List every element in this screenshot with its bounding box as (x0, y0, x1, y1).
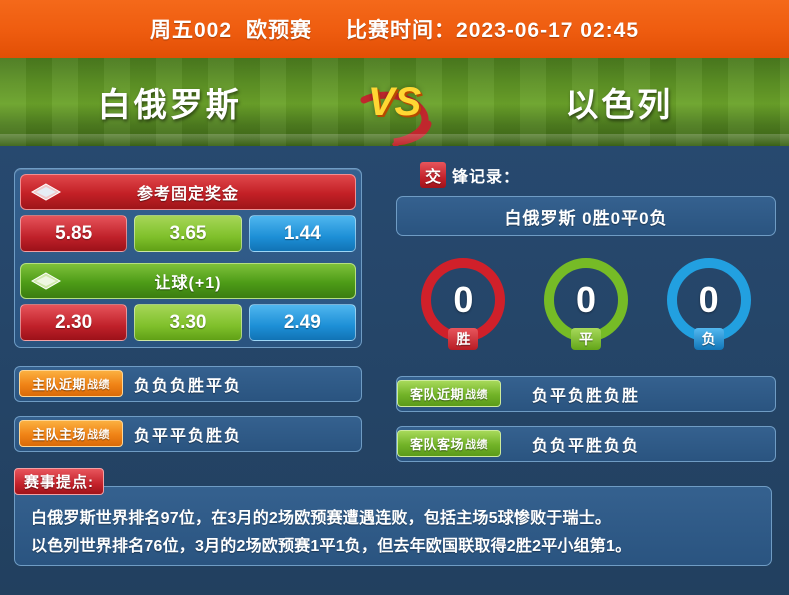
tag-main-text: 主队主场 (32, 424, 86, 443)
odds-panel: 参考固定奖金 5.85 3.65 1.44 让球(+1) 2.30 3.3 (14, 168, 362, 348)
h2h-heading-rest: 锋记录： (452, 163, 520, 187)
handicap-title-banner: 让球(+1) (20, 263, 356, 299)
notes-section: 赛事提点: 白俄罗斯世界排名97位，在3月的2场欧预赛遭遇连败，包括主场5球惨败… (14, 468, 774, 574)
odds-column: 参考固定奖金 5.85 3.65 1.44 让球(+1) 2.30 3.3 (14, 168, 362, 452)
handicap-odd-draw[interactable]: 3.30 (134, 304, 241, 341)
tag-sub-text: 战绩 (465, 436, 488, 452)
fixed-odds-title-banner: 参考固定奖金 (20, 174, 356, 210)
h2h-ring-draw: 0 平 (538, 252, 634, 348)
fixed-odds-title: 参考固定奖金 (137, 180, 239, 204)
home-team-name: 白俄罗斯 (0, 78, 340, 126)
h2h-column: 交 锋记录： 白俄罗斯 0胜0平0负 0 胜 0 平 (396, 162, 776, 462)
vs-label: VS (368, 80, 421, 124)
fixed-odds-row: 5.85 3.65 1.44 (15, 215, 361, 258)
handicap-odd-home[interactable]: 2.30 (20, 304, 127, 341)
h2h-ring-win: 0 胜 (415, 252, 511, 348)
vs-badge: VS (340, 80, 450, 125)
note-line-1: 白俄罗斯世界排名97位，在3月的2场欧预赛遭遇连败，包括主场5球惨败于瑞士。 (31, 504, 755, 528)
content-area: 参考固定奖金 5.85 3.65 1.44 让球(+1) 2.30 3.3 (0, 146, 789, 595)
fixed-odd-away[interactable]: 1.44 (249, 215, 356, 252)
home-home-form-row: 主队主场 战绩 负平平负胜负 (14, 416, 362, 452)
h2h-ring-win-label: 胜 (448, 328, 478, 350)
teams-row: 白俄罗斯 VS 以色列 (0, 58, 789, 146)
league-name: 欧预赛 (246, 14, 312, 44)
home-home-form-tag: 主队主场 战绩 (19, 420, 123, 447)
header-bar: 周五002 欧预赛 比赛时间：2023-06-17 02:45 (0, 0, 789, 58)
tag-main-text: 主队近期 (32, 374, 86, 393)
away-away-form-row: 客队客场 战绩 负负平胜负负 (396, 426, 776, 462)
away-recent-form-tag: 客队近期 战绩 (397, 380, 501, 407)
tag-sub-text: 战绩 (87, 426, 110, 442)
h2h-heading-keyword: 交 (420, 162, 446, 188)
header-text-group: 周五002 欧预赛 比赛时间：2023-06-17 02:45 (150, 14, 639, 44)
match-number: 周五002 (150, 14, 232, 44)
fixed-odd-home[interactable]: 5.85 (20, 215, 127, 252)
h2h-rings: 0 胜 0 平 0 负 (396, 252, 776, 348)
home-recent-form-tag: 主队近期 战绩 (19, 370, 123, 397)
diamond-icon (29, 271, 63, 291)
handicap-odds-row: 2.30 3.30 2.49 (15, 304, 361, 347)
tag-sub-text: 战绩 (465, 386, 488, 402)
match-preview-card: 周五002 欧预赛 比赛时间：2023-06-17 02:45 白俄罗斯 VS … (0, 0, 789, 595)
h2h-ring-loss: 0 负 (661, 252, 757, 348)
away-recent-form-row: 客队近期 战绩 负平负胜负胜 (396, 376, 776, 412)
tag-main-text: 客队客场 (410, 434, 464, 453)
fixed-odd-draw[interactable]: 3.65 (134, 215, 241, 252)
field-banner: 白俄罗斯 VS 以色列 (0, 58, 789, 146)
away-away-form-tag: 客队客场 战绩 (397, 430, 501, 457)
h2h-summary: 白俄罗斯 0胜0平0负 (396, 196, 776, 236)
tag-sub-text: 战绩 (87, 376, 110, 392)
h2h-ring-loss-label: 负 (694, 328, 724, 350)
h2h-heading: 交 锋记录： (420, 162, 776, 188)
home-recent-form-row: 主队近期 战绩 负负负胜平负 (14, 366, 362, 402)
note-line-2: 以色列世界排名76位，3月的2场欧预赛1平1负，但去年欧国联取得2胜2平小组第1… (31, 532, 755, 556)
notes-body: 白俄罗斯世界排名97位，在3月的2场欧预赛遭遇连败，包括主场5球惨败于瑞士。 以… (14, 486, 772, 566)
h2h-ring-draw-label: 平 (571, 328, 601, 350)
away-team-name: 以色列 (450, 78, 789, 126)
handicap-odd-away[interactable]: 2.49 (249, 304, 356, 341)
diamond-icon (29, 182, 63, 202)
tag-main-text: 客队近期 (410, 384, 464, 403)
handicap-title: 让球(+1) (155, 269, 222, 293)
notes-title: 赛事提点: (14, 468, 104, 495)
match-time: 比赛时间：2023-06-17 02:45 (346, 14, 639, 44)
